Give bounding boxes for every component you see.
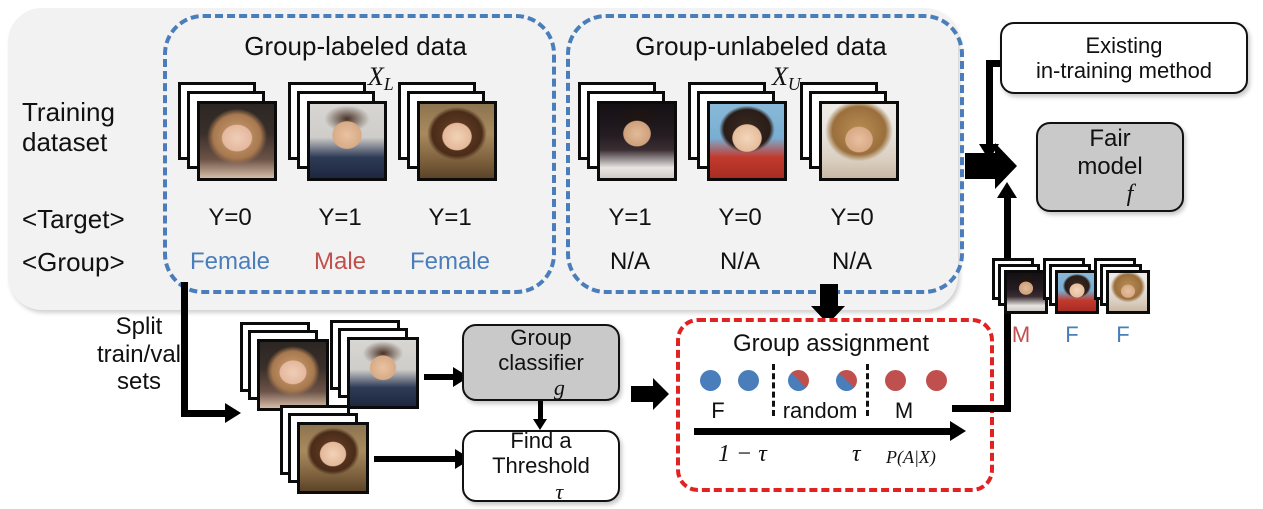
assigned-group-label: F bbox=[1094, 322, 1152, 347]
existing-method-line1: Existing bbox=[1085, 33, 1162, 58]
sample-photo bbox=[307, 101, 387, 181]
existing-in-training-method-box[interactable]: Existingin-training method bbox=[1000, 22, 1248, 94]
threshold-divider-left bbox=[772, 364, 775, 416]
arrow-head bbox=[995, 143, 1017, 189]
face-image bbox=[350, 340, 416, 406]
face-image bbox=[600, 104, 674, 178]
face-image bbox=[300, 425, 366, 491]
threshold-divider-right bbox=[866, 364, 869, 416]
group-classifier-label: Groupclassifier g bbox=[498, 325, 584, 401]
photo-stack bbox=[240, 322, 336, 418]
axis-label-tau: τ bbox=[852, 441, 861, 469]
face-image bbox=[260, 342, 326, 408]
sample-photo bbox=[819, 101, 899, 181]
face-image bbox=[710, 104, 784, 178]
arrow-tail bbox=[965, 153, 995, 179]
face-image bbox=[1058, 273, 1096, 311]
sample-photo bbox=[197, 101, 277, 181]
group-classifier-line1: Group bbox=[510, 325, 571, 350]
sample-target-label: Y=0 bbox=[178, 204, 282, 232]
assignment-out-horizontal bbox=[952, 405, 1010, 412]
assigned-group-label: F bbox=[1043, 322, 1101, 347]
sample-target-label: Y=1 bbox=[288, 204, 392, 232]
dot-male bbox=[926, 370, 947, 391]
photo-stack bbox=[992, 258, 1050, 316]
face-image bbox=[200, 104, 274, 178]
region-label-male: M bbox=[884, 398, 924, 423]
find-threshold-symbol: τ bbox=[555, 479, 563, 504]
to-group-assignment-arrow bbox=[631, 378, 681, 410]
sample-group-label: Female bbox=[388, 248, 512, 276]
group-labeled-title-text: Group-labeled data bbox=[244, 31, 467, 61]
existing-method-label: Existingin-training method bbox=[1036, 33, 1212, 84]
dot-male bbox=[885, 370, 906, 391]
fair-model-box[interactable]: Fairmodel f bbox=[1036, 122, 1184, 212]
sample-target-label: Y=0 bbox=[688, 204, 792, 232]
sample-target-label: Y=1 bbox=[398, 204, 502, 232]
sample-photo bbox=[1106, 270, 1150, 314]
arrow-tail bbox=[631, 386, 653, 402]
to-fair-model-arrow bbox=[965, 143, 1027, 189]
photo-stack bbox=[280, 405, 376, 501]
fair-model-symbol: f bbox=[1127, 181, 1134, 207]
sample-photo bbox=[1055, 270, 1099, 314]
fair-model-label: Fairmodel f bbox=[1077, 125, 1142, 209]
sample-photo bbox=[597, 101, 677, 181]
figure-canvas: Training dataset <Target> <Group> Group-… bbox=[0, 0, 1263, 509]
sample-target-label: Y=1 bbox=[578, 204, 682, 232]
region-label-female: F bbox=[698, 398, 738, 423]
sample-photo bbox=[257, 339, 329, 411]
face-image bbox=[822, 104, 896, 178]
face-image bbox=[310, 104, 384, 178]
axis-label-one-minus-tau: 1 − τ bbox=[718, 441, 767, 469]
find-threshold-line1: Find a bbox=[510, 428, 571, 453]
split-arrow-head bbox=[225, 403, 241, 423]
probability-axis-arrowhead bbox=[950, 421, 966, 441]
face-image bbox=[1109, 273, 1147, 311]
sample-photo bbox=[347, 337, 419, 409]
split-arrow-vertical bbox=[181, 282, 188, 417]
group-classifier-line2: classifier bbox=[498, 350, 584, 375]
sample-group-label: Female bbox=[168, 248, 292, 276]
photo-stack bbox=[1043, 258, 1101, 316]
region-label-random: random bbox=[776, 398, 864, 423]
sample-group-label: Male bbox=[288, 248, 392, 276]
dot-random bbox=[836, 370, 857, 391]
sample-group-label: N/A bbox=[578, 248, 682, 276]
sample-photo bbox=[707, 101, 787, 181]
photo-stack bbox=[330, 320, 426, 416]
dot-female bbox=[700, 370, 721, 391]
group-unlabeled-title-text: Group-unlabeled data bbox=[635, 31, 887, 61]
existing-method-line2: in-training method bbox=[1036, 58, 1212, 83]
fair-model-line1: Fair bbox=[1089, 125, 1130, 152]
dot-female bbox=[738, 370, 759, 391]
find-threshold-box[interactable]: Find aThreshold τ bbox=[462, 430, 620, 502]
photo-stack bbox=[800, 82, 904, 186]
sample-photo bbox=[297, 422, 369, 494]
photo-stack bbox=[398, 82, 502, 186]
sample-target-label: Y=0 bbox=[800, 204, 904, 232]
photo-stack bbox=[178, 82, 282, 186]
fair-model-line2: model bbox=[1077, 153, 1142, 180]
face-image bbox=[420, 104, 494, 178]
photo-stack bbox=[288, 82, 392, 186]
group-row-label: <Group> bbox=[22, 248, 125, 278]
group-classifier-box[interactable]: Groupclassifier g bbox=[462, 324, 620, 401]
sample-photo bbox=[417, 101, 497, 181]
training-dataset-label: Training dataset bbox=[22, 98, 162, 158]
sample-group-label: N/A bbox=[688, 248, 792, 276]
photo-stack bbox=[688, 82, 792, 186]
assigned-group-label: M bbox=[992, 322, 1050, 347]
sample-photo bbox=[1004, 270, 1048, 314]
split-arrow-horizontal bbox=[181, 410, 225, 417]
photo-stack bbox=[578, 82, 682, 186]
find-threshold-line2: Threshold bbox=[492, 453, 590, 478]
classifier-to-threshold-arrow bbox=[538, 401, 543, 420]
dot-random bbox=[788, 370, 809, 391]
face-image bbox=[1007, 273, 1045, 311]
val-to-threshold-arrow bbox=[374, 456, 456, 462]
arrow-head bbox=[653, 378, 669, 410]
group-assignment-title: Group assignment bbox=[676, 330, 986, 358]
photo-stack bbox=[1094, 258, 1152, 316]
method-out-vertical bbox=[986, 60, 993, 146]
target-row-label: <Target> bbox=[22, 205, 125, 235]
axis-name-probability: P(A|X) bbox=[886, 447, 936, 468]
probability-axis-line bbox=[694, 428, 952, 435]
train-to-classifier-arrow bbox=[424, 374, 454, 380]
arrow-tail bbox=[820, 284, 838, 308]
sample-group-label: N/A bbox=[800, 248, 904, 276]
group-classifier-symbol: g bbox=[554, 375, 565, 400]
find-threshold-label: Find aThreshold τ bbox=[492, 428, 590, 504]
